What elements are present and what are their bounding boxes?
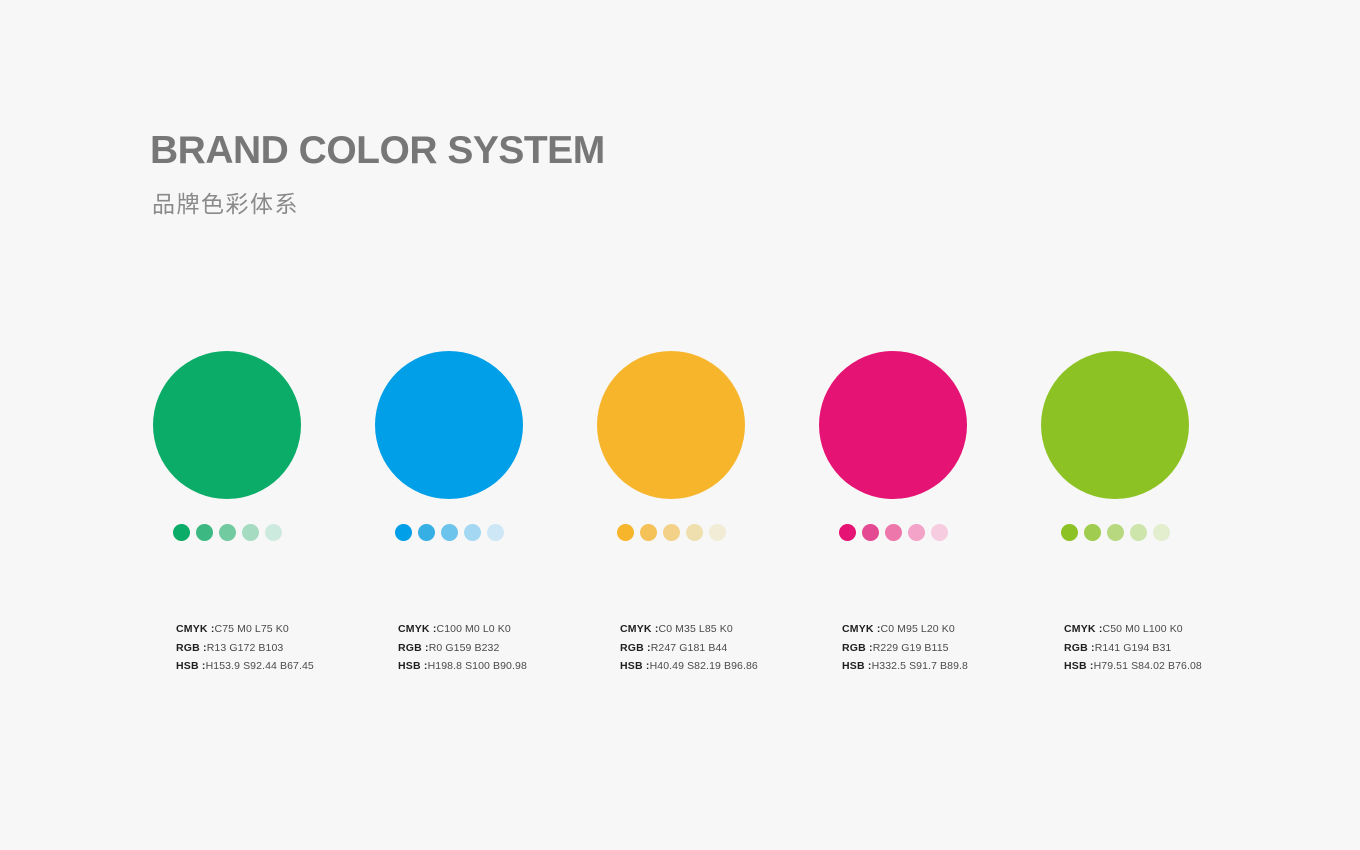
tint-row-brand-lime [1061, 524, 1201, 541]
spec-label-rgb: RGB : [1064, 642, 1095, 654]
spec-label-cmyk: CMYK : [842, 623, 881, 635]
spec-line-hsb-brand-green: HSB :H153.9 S92.44 B67.45 [176, 657, 398, 676]
spec-line-hsb-brand-lime: HSB :H79.51 S84.02 B76.08 [1064, 657, 1244, 676]
spec-value-cmyk: C75 M0 L75 K0 [215, 623, 289, 635]
spec-value-rgb: R0 G159 B232 [429, 642, 500, 654]
spec-line-cmyk-brand-green: CMYK :C75 M0 L75 K0 [176, 620, 398, 639]
tint-dot-brand-lime-1[interactable] [1061, 524, 1078, 541]
spec-value-cmyk: C50 M0 L100 K0 [1103, 623, 1183, 635]
tint-dot-brand-lime-5[interactable] [1153, 524, 1170, 541]
tint-dot-brand-magenta-2[interactable] [862, 524, 879, 541]
tint-dot-brand-orange-5[interactable] [709, 524, 726, 541]
spec-label-rgb: RGB : [842, 642, 873, 654]
spec-line-rgb-brand-lime: RGB :R141 G194 B31 [1064, 639, 1244, 658]
spec-value-cmyk: C0 M95 L20 K0 [881, 623, 955, 635]
spec-label-hsb: HSB : [176, 660, 206, 672]
spec-line-rgb-brand-magenta: RGB :R229 G19 B115 [842, 639, 1064, 658]
page-header: BRAND COLOR SYSTEM 品牌色彩体系 [150, 131, 605, 219]
spec-line-cmyk-brand-orange: CMYK :C0 M35 L85 K0 [620, 620, 842, 639]
spec-line-cmyk-brand-magenta: CMYK :C0 M95 L20 K0 [842, 620, 1064, 639]
tint-dot-brand-blue-4[interactable] [464, 524, 481, 541]
spec-line-hsb-brand-blue: HSB :H198.8 S100 B90.98 [398, 657, 620, 676]
spec-value-rgb: R141 G194 B31 [1095, 642, 1172, 654]
spec-value-cmyk: C100 M0 L0 K0 [437, 623, 511, 635]
spec-label-rgb: RGB : [620, 642, 651, 654]
spec-value-rgb: R229 G19 B115 [873, 642, 949, 654]
tint-dot-brand-green-3[interactable] [219, 524, 236, 541]
spec-line-hsb-brand-magenta: HSB :H332.5 S91.7 B89.8 [842, 657, 1064, 676]
spec-value-rgb: R13 G172 B103 [207, 642, 284, 654]
primary-swatch-brand-magenta[interactable] [819, 351, 967, 499]
spec-label-rgb: RGB : [398, 642, 429, 654]
primary-swatch-brand-lime[interactable] [1041, 351, 1189, 499]
spec-label-hsb: HSB : [842, 660, 872, 672]
tint-dot-brand-magenta-1[interactable] [839, 524, 856, 541]
spec-label-rgb: RGB : [176, 642, 207, 654]
brand-color-system-page: BRAND COLOR SYSTEM 品牌色彩体系 CMYK :C75 M0 L… [0, 0, 1360, 850]
tint-row-brand-orange [617, 524, 819, 541]
primary-swatch-brand-orange[interactable] [597, 351, 745, 499]
spec-value-cmyk: C0 M35 L85 K0 [659, 623, 733, 635]
spec-column-brand-lime: CMYK :C50 M0 L100 K0RGB :R141 G194 B31HS… [1064, 620, 1244, 676]
spec-label-cmyk: CMYK : [620, 623, 659, 635]
tint-row-brand-blue [395, 524, 597, 541]
tint-dot-brand-magenta-3[interactable] [885, 524, 902, 541]
tint-dot-brand-blue-3[interactable] [441, 524, 458, 541]
page-subtitle: 品牌色彩体系 [152, 185, 605, 219]
tint-dot-brand-blue-5[interactable] [487, 524, 504, 541]
tint-dot-brand-orange-4[interactable] [686, 524, 703, 541]
spec-line-rgb-brand-blue: RGB :R0 G159 B232 [398, 639, 620, 658]
spec-value-hsb: H153.9 S92.44 B67.45 [206, 660, 314, 672]
spec-column-brand-orange: CMYK :C0 M35 L85 K0RGB :R247 G181 B44HSB… [620, 620, 842, 676]
spec-line-cmyk-brand-blue: CMYK :C100 M0 L0 K0 [398, 620, 620, 639]
page-title: BRAND COLOR SYSTEM [150, 131, 605, 172]
spec-label-cmyk: CMYK : [398, 623, 437, 635]
spec-line-cmyk-brand-lime: CMYK :C50 M0 L100 K0 [1064, 620, 1244, 639]
tint-dot-brand-lime-4[interactable] [1130, 524, 1147, 541]
tint-dot-brand-green-5[interactable] [265, 524, 282, 541]
spec-line-rgb-brand-green: RGB :R13 G172 B103 [176, 639, 398, 658]
spec-column-brand-green: CMYK :C75 M0 L75 K0RGB :R13 G172 B103HSB… [176, 620, 398, 676]
tint-dot-brand-blue-2[interactable] [418, 524, 435, 541]
spec-label-hsb: HSB : [398, 660, 428, 672]
tint-dot-brand-blue-1[interactable] [395, 524, 412, 541]
spec-label-cmyk: CMYK : [1064, 623, 1103, 635]
swatch-column-brand-orange [597, 351, 819, 541]
swatch-column-brand-green [153, 351, 375, 541]
spec-line-rgb-brand-orange: RGB :R247 G181 B44 [620, 639, 842, 658]
spec-line-hsb-brand-orange: HSB :H40.49 S82.19 B96.86 [620, 657, 842, 676]
spec-column-brand-blue: CMYK :C100 M0 L0 K0RGB :R0 G159 B232HSB … [398, 620, 620, 676]
tint-dot-brand-magenta-5[interactable] [931, 524, 948, 541]
color-swatch-row [153, 351, 1223, 541]
spec-column-brand-magenta: CMYK :C0 M95 L20 K0RGB :R229 G19 B115HSB… [842, 620, 1064, 676]
tint-dot-brand-green-1[interactable] [173, 524, 190, 541]
primary-swatch-brand-blue[interactable] [375, 351, 523, 499]
swatch-column-brand-lime [1041, 351, 1201, 541]
spec-value-hsb: H332.5 S91.7 B89.8 [872, 660, 968, 672]
tint-dot-brand-orange-1[interactable] [617, 524, 634, 541]
spec-value-rgb: R247 G181 B44 [651, 642, 728, 654]
tint-row-brand-magenta [839, 524, 1041, 541]
tint-dot-brand-green-2[interactable] [196, 524, 213, 541]
swatch-column-brand-magenta [819, 351, 1041, 541]
tint-dot-brand-magenta-4[interactable] [908, 524, 925, 541]
tint-dot-brand-green-4[interactable] [242, 524, 259, 541]
spec-value-hsb: H79.51 S84.02 B76.08 [1094, 660, 1202, 672]
spec-label-hsb: HSB : [1064, 660, 1094, 672]
tint-dot-brand-lime-2[interactable] [1084, 524, 1101, 541]
tint-dot-brand-lime-3[interactable] [1107, 524, 1124, 541]
tint-dot-brand-orange-2[interactable] [640, 524, 657, 541]
tint-row-brand-green [173, 524, 375, 541]
swatch-column-brand-blue [375, 351, 597, 541]
spec-label-cmyk: CMYK : [176, 623, 215, 635]
spec-value-hsb: H40.49 S82.19 B96.86 [650, 660, 758, 672]
tint-dot-brand-orange-3[interactable] [663, 524, 680, 541]
primary-swatch-brand-green[interactable] [153, 351, 301, 499]
spec-value-hsb: H198.8 S100 B90.98 [428, 660, 527, 672]
spec-label-hsb: HSB : [620, 660, 650, 672]
color-spec-row: CMYK :C75 M0 L75 K0RGB :R13 G172 B103HSB… [176, 620, 1236, 676]
